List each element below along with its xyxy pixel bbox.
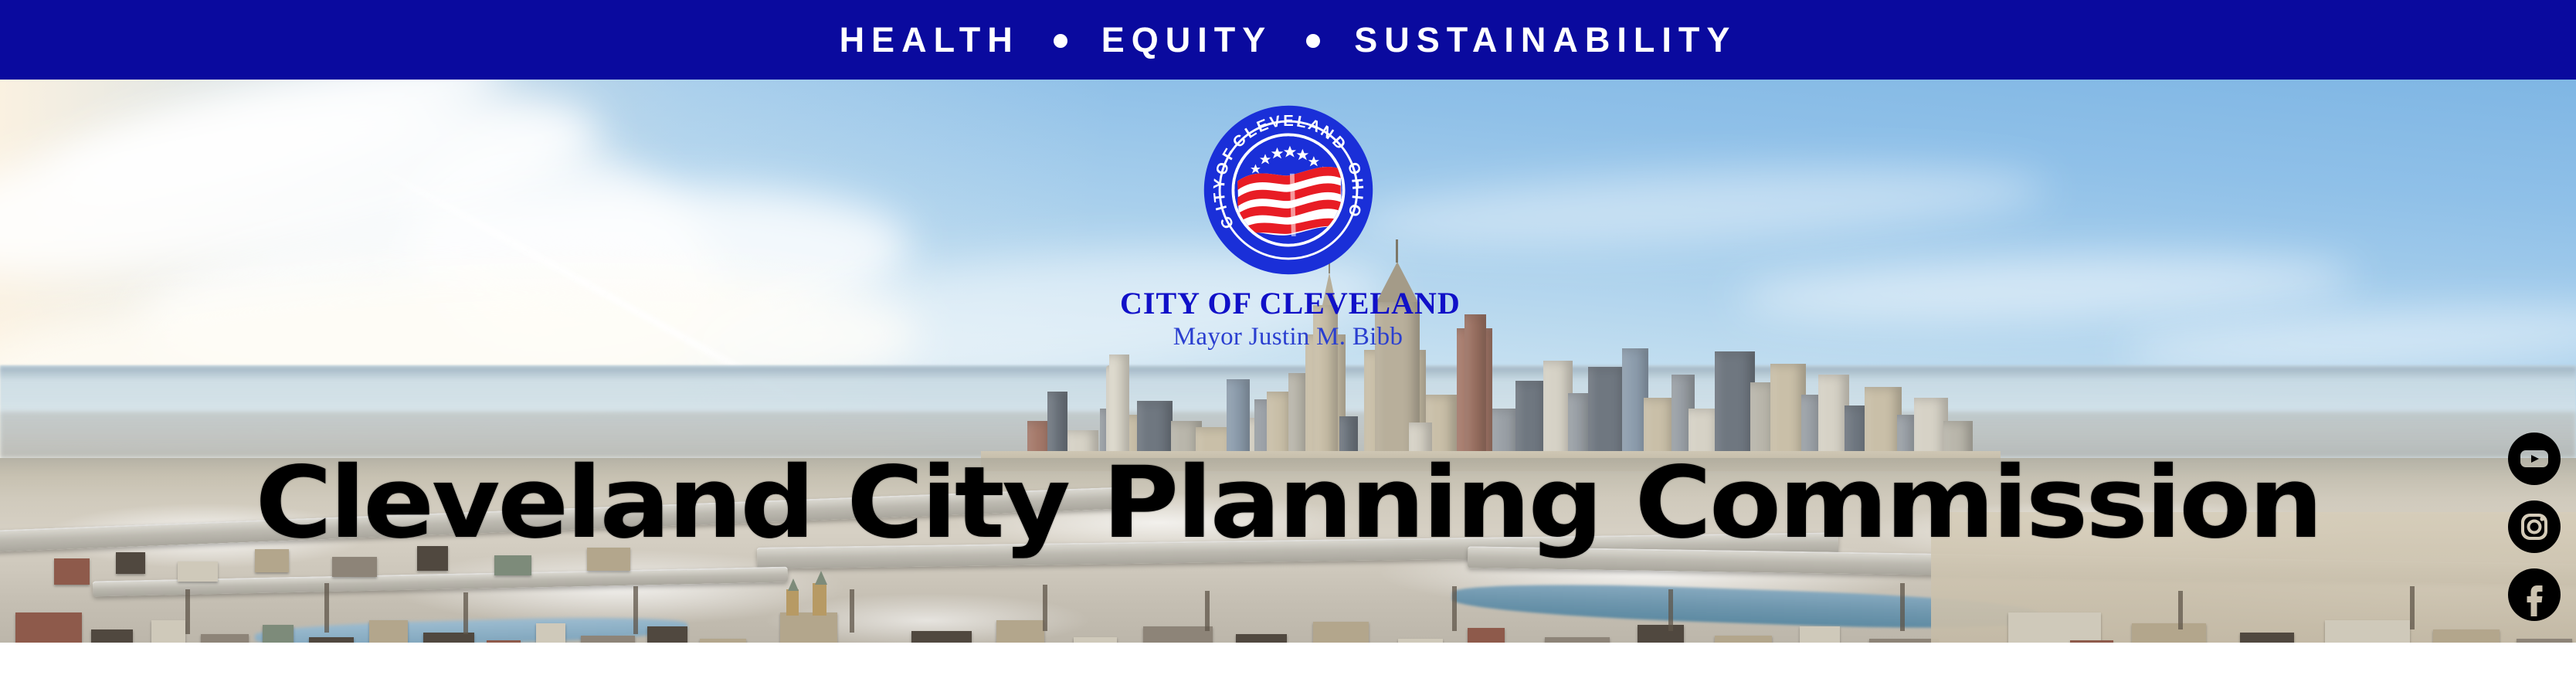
svg-text:Y: Y: [1210, 178, 1228, 190]
city-name-wordmark: CITY OF CLEVELAND: [1120, 287, 1456, 320]
city-of-cleveland-seal-icon: C I T Y O F C L E V E L A N D O: [1199, 100, 1378, 280]
youtube-icon[interactable]: [2508, 433, 2561, 485]
page-title: Cleveland City Planning Commission: [0, 454, 2576, 553]
tagline-text-group: HEALTH EQUITY SUSTAINABILITY: [840, 22, 1737, 57]
bullet-dot-icon: [1054, 34, 1067, 48]
tagline-word-health: HEALTH: [840, 22, 1020, 57]
facebook-icon[interactable]: [2508, 568, 2561, 621]
social-links-rail: [2508, 433, 2570, 636]
svg-text:E: E: [1283, 113, 1294, 130]
tagline-banner: HEALTH EQUITY SUSTAINABILITY: [0, 0, 2576, 80]
bullet-dot-icon: [1306, 34, 1320, 48]
tagline-word-sustainability: SUSTAINABILITY: [1354, 22, 1736, 57]
svg-text:H: H: [1348, 178, 1366, 191]
bottom-white-strip: [0, 643, 2576, 682]
city-branding-block: C I T Y O F C L E V E L A N D O: [1120, 100, 1456, 351]
tagline-word-equity: EQUITY: [1101, 22, 1273, 57]
instagram-icon[interactable]: [2508, 500, 2561, 553]
page-root: HEALTH EQUITY SUSTAINABILITY: [0, 0, 2576, 682]
mayor-name-label: Mayor Justin M. Bibb: [1120, 323, 1456, 351]
